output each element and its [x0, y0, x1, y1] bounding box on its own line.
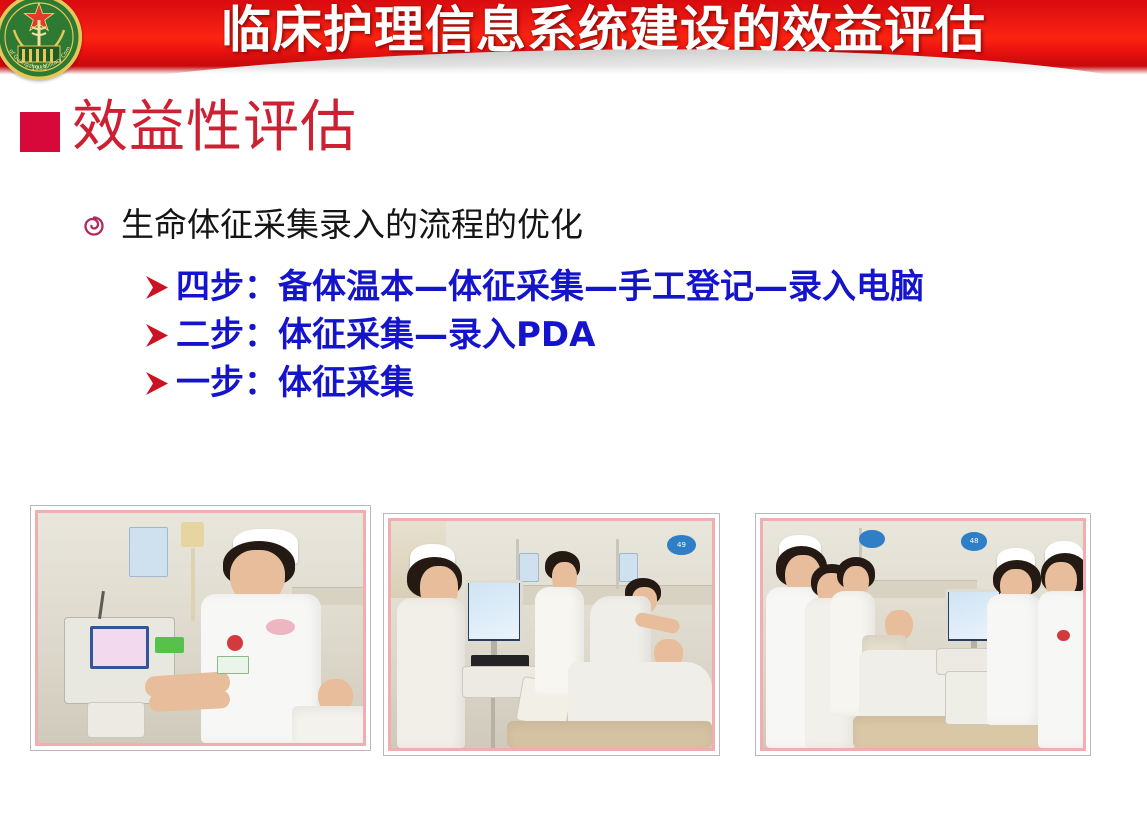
- banner-bottom-fade: [0, 66, 1147, 76]
- bullet-level2-text: 四步：备体温本—体征采集—手工登记—录入电脑: [176, 266, 924, 308]
- bullet-level2-item-1: 四步：备体温本—体征采集—手工登记—录入电脑: [144, 266, 924, 308]
- red-square-bullet-icon: [20, 112, 60, 152]
- title-banner: 临床护理信息系统建设的效益评估: [0, 0, 1147, 76]
- red-arrow-bullet-icon: [144, 320, 170, 354]
- bed-number-badge: 48: [961, 532, 987, 550]
- bullet-level2-text: 二步：体征采集—录入PDA: [176, 314, 595, 356]
- bullet-level2-item-3: 一步：体征采集: [144, 362, 924, 404]
- red-arrow-bullet-icon: [144, 272, 170, 306]
- bullet-level2-item-2: 二步：体征采集—录入PDA: [144, 314, 924, 356]
- section-heading: 效益性评估: [20, 100, 357, 156]
- bullet-level2-text: 一步：体征采集: [176, 362, 414, 404]
- spiral-bullet-icon: [80, 212, 108, 240]
- photo-ward-round-mobile-cart: 49: [383, 513, 720, 756]
- photo-nurse-with-vitals-monitor: [30, 505, 371, 751]
- section-heading-text: 效益性评估: [72, 100, 357, 156]
- bullet-level1-text: 生命体征采集录入的流程的优化: [121, 206, 583, 244]
- bed-number-badge: 49: [667, 535, 696, 555]
- red-arrow-bullet-icon: [144, 368, 170, 402]
- military-hospital-emblem-icon: ·1933· of Guangzhou Military Command: [0, 0, 82, 80]
- bullet-level2-list: 四步：备体温本—体征采集—手工登记—录入电脑 二步：体征采集—录入PDA 一步：…: [144, 266, 924, 410]
- slide-root: 临床护理信息系统建设的效益评估: [0, 0, 1147, 816]
- bullet-level1: 生命体征采集录入的流程的优化: [80, 206, 583, 244]
- photo-nursing-team-bedside: 48: [755, 513, 1091, 756]
